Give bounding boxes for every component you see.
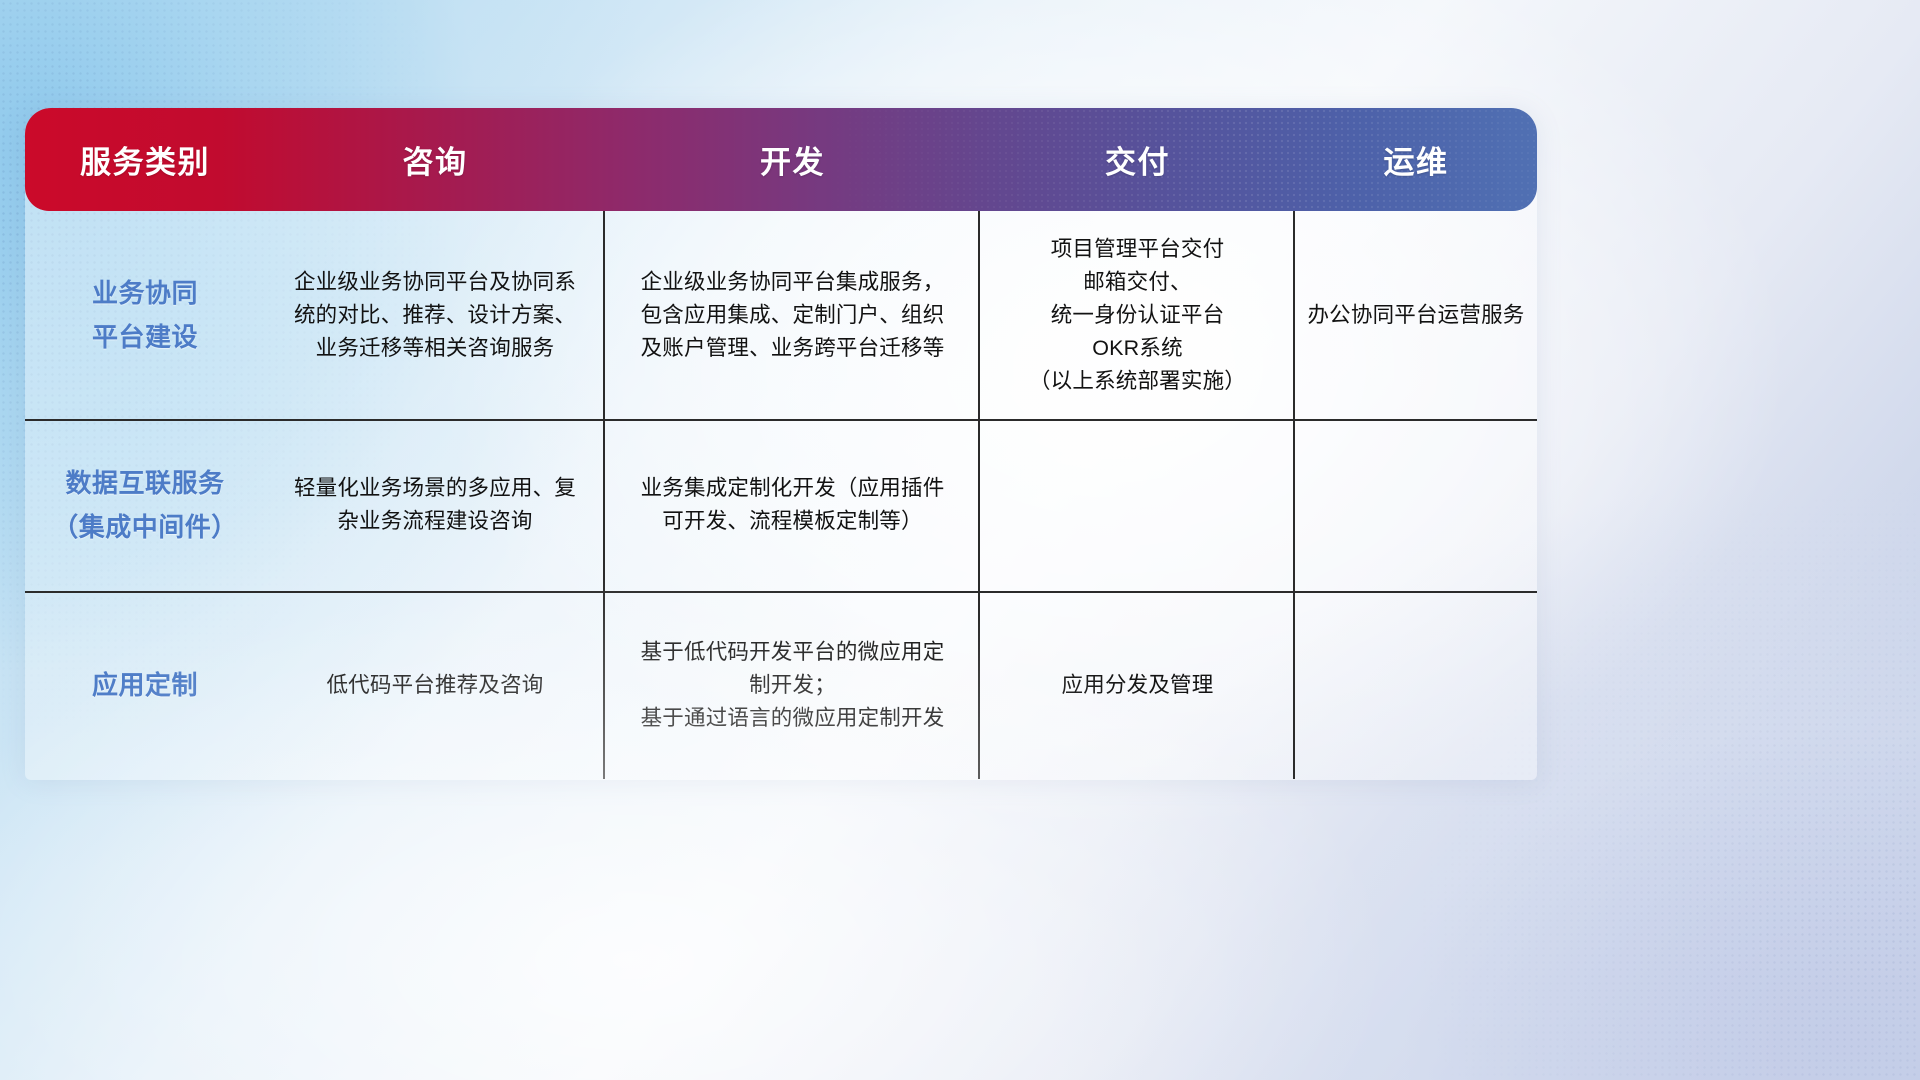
cell-consulting: 企业级业务协同平台及协同系 统的对比、推荐、设计方案、 业务迁移等相关咨询服务: [265, 211, 605, 419]
cell-delivery: 应用分发及管理: [980, 591, 1295, 779]
table-row: 业务协同 平台建设 企业级业务协同平台及协同系 统的对比、推荐、设计方案、 业务…: [25, 211, 1537, 419]
row-category-cell: 业务协同 平台建设: [25, 211, 265, 419]
category-label: 业务协同 平台建设: [92, 271, 198, 359]
header-cell-delivery: 交付: [980, 137, 1295, 182]
table-header-row: 服务类别 咨询 开发 交付 运维: [25, 108, 1537, 211]
slide-canvas: 服务类别 咨询 开发 交付 运维 业务协同 平台建设 企业级业务协同平台及协同系…: [0, 0, 1920, 1080]
cell-operations: [1295, 591, 1537, 779]
table-row: 数据互联服务 （集成中间件） 轻量化业务场景的多应用、复 杂业务流程建设咨询 业…: [25, 419, 1537, 591]
category-label: 数据互联服务 （集成中间件）: [52, 461, 238, 549]
header-cell-development: 开发: [605, 137, 980, 182]
cell-operations: [1295, 419, 1537, 591]
table-row: 应用定制 低代码平台推荐及咨询 基于低代码开发平台的微应用定 制开发； 基于通过…: [25, 591, 1537, 779]
cell-development: 基于低代码开发平台的微应用定 制开发； 基于通过语言的微应用定制开发: [605, 591, 980, 779]
cell-consulting: 低代码平台推荐及咨询: [265, 591, 605, 779]
cell-development: 业务集成定制化开发（应用插件 可开发、流程模板定制等）: [605, 419, 980, 591]
cell-delivery: [980, 419, 1295, 591]
header-cell-consulting: 咨询: [265, 137, 605, 182]
row-category-cell: 数据互联服务 （集成中间件）: [25, 419, 265, 591]
category-label: 应用定制: [92, 663, 198, 707]
cell-development: 企业级业务协同平台集成服务， 包含应用集成、定制门户、组织 及账户管理、业务跨平…: [605, 211, 980, 419]
row-category-cell: 应用定制: [25, 591, 265, 779]
cell-operations: 办公协同平台运营服务: [1295, 211, 1537, 419]
header-cell-service-category: 服务类别: [25, 137, 265, 182]
cell-delivery: 项目管理平台交付 邮箱交付、 统一身份认证平台 OKR系统 （以上系统部署实施）: [980, 211, 1295, 419]
header-cell-operations: 运维: [1295, 137, 1537, 182]
service-matrix-table: 服务类别 咨询 开发 交付 运维 业务协同 平台建设 企业级业务协同平台及协同系…: [25, 108, 1537, 780]
cell-consulting: 轻量化业务场景的多应用、复 杂业务流程建设咨询: [265, 419, 605, 591]
table-body: 业务协同 平台建设 企业级业务协同平台及协同系 统的对比、推荐、设计方案、 业务…: [25, 211, 1537, 779]
